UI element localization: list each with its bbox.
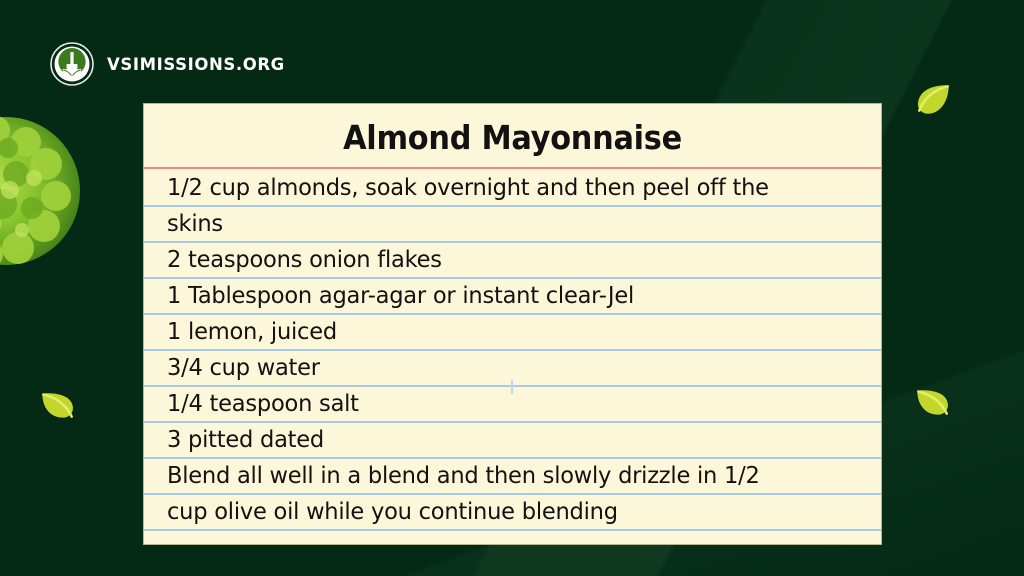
recipe-line: 1/2 cup almonds, soak overnight and then…	[167, 169, 839, 205]
shovel-and-leaf-emblem-icon	[50, 42, 94, 86]
recipe-line: 3/4 cup water	[167, 349, 839, 385]
recipe-card: Almond Mayonnaise 1/2 cup almonds, soak …	[143, 103, 882, 545]
recipe-title: Almond Mayonnaise	[173, 118, 851, 157]
ruled-line	[144, 529, 881, 531]
brand-logo[interactable]: VSIMISSIONS.ORG	[50, 42, 285, 86]
brand-name: VSIMISSIONS.ORG	[107, 55, 285, 74]
recipe-line: Blend all well in a blend and then slowl…	[167, 457, 839, 493]
recipe-line: 1/4 teaspoon salt	[167, 385, 839, 421]
recipe-line: 1 lemon, juiced	[167, 313, 839, 349]
recipe-line: 1 Tablespoon agar-agar or instant clear-…	[167, 277, 839, 313]
recipe-line: skins	[167, 205, 839, 241]
slide-canvas: VSIMISSIONS.ORG Almond Mayonnaise 1/2 cu…	[0, 0, 1024, 576]
recipe-lines: 1/2 cup almonds, soak overnight and then…	[167, 169, 867, 529]
recipe-line: 3 pitted dated	[167, 421, 839, 457]
recipe-line: cup olive oil while you continue blendin…	[167, 493, 839, 529]
recipe-line: 2 teaspoons onion flakes	[167, 241, 839, 277]
